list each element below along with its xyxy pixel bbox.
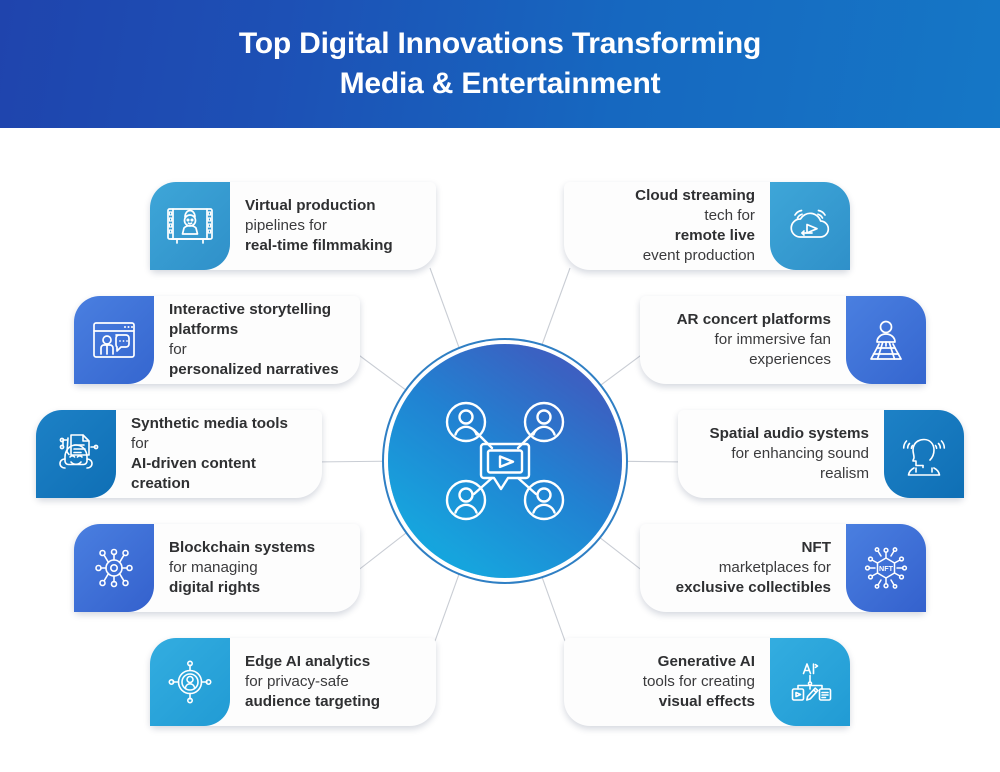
card-ar-concert-platforms[interactable]: AR concert platforms for immersive fan e… — [640, 296, 926, 384]
generative-ai-tools-icon — [770, 638, 850, 726]
browser-chat-user-icon — [74, 296, 154, 384]
card-virtual-production[interactable]: Virtual production pipelines for real-ti… — [150, 182, 436, 270]
center-hub — [388, 344, 622, 578]
card-synthetic-media[interactable]: Synthetic media tools for AI-driven cont… — [36, 410, 322, 498]
card-text: Synthetic media tools for AI-driven cont… — [116, 410, 322, 498]
card-cloud-streaming[interactable]: Cloud streaming tech for remote live eve… — [564, 182, 850, 270]
connected-users-video-icon — [430, 386, 580, 536]
card-text: Spatial audio systems for enhancing soun… — [678, 410, 884, 498]
card-text: Cloud streaming tech for remote live eve… — [564, 182, 770, 270]
blockchain-network-icon — [74, 524, 154, 612]
header-banner: Top Digital Innovations Transforming Med… — [0, 0, 1000, 128]
card-text: Virtual production pipelines for real-ti… — [230, 182, 436, 270]
infographic-canvas: Top Digital Innovations Transforming Med… — [0, 0, 1000, 772]
cloud-play-stream-icon — [770, 182, 850, 270]
nft-token-network-icon: NFT — [846, 524, 926, 612]
card-text: Generative AI tools for creating visual … — [564, 638, 770, 726]
card-nft-marketplaces[interactable]: NFT marketplaces for exclusive collectib… — [640, 524, 926, 612]
card-text: NFT marketplaces for exclusive collectib… — [640, 524, 846, 612]
page-title: Top Digital Innovations Transforming Med… — [159, 24, 841, 104]
film-director-icon — [150, 182, 230, 270]
svg-text:NFT: NFT — [879, 564, 894, 573]
card-text: Edge AI analytics for privacy-safe audie… — [230, 638, 436, 726]
spatial-audio-head-icon — [884, 410, 964, 498]
card-edge-ai-analytics[interactable]: Edge AI analytics for privacy-safe audie… — [150, 638, 436, 726]
page-title-line-1: Top Digital Innovations Transforming — [239, 27, 761, 60]
card-text: Blockchain systems for managing digital … — [154, 524, 360, 612]
card-text: AR concert platforms for immersive fan e… — [640, 296, 846, 384]
page-title-line-2: Media & Entertainment — [340, 67, 661, 100]
targeted-user-network-icon — [150, 638, 230, 726]
ar-stage-performer-icon — [846, 296, 926, 384]
card-spatial-audio[interactable]: Spatial audio systems for enhancing soun… — [678, 410, 964, 498]
card-interactive-storytelling[interactable]: Interactive storytelling platforms for p… — [74, 296, 360, 384]
card-text: Interactive storytelling platforms for p… — [154, 296, 360, 384]
card-blockchain-systems[interactable]: Blockchain systems for managing digital … — [74, 524, 360, 612]
ai-head-document-icon — [36, 410, 116, 498]
card-generative-ai[interactable]: Generative AI tools for creating visual … — [564, 638, 850, 726]
